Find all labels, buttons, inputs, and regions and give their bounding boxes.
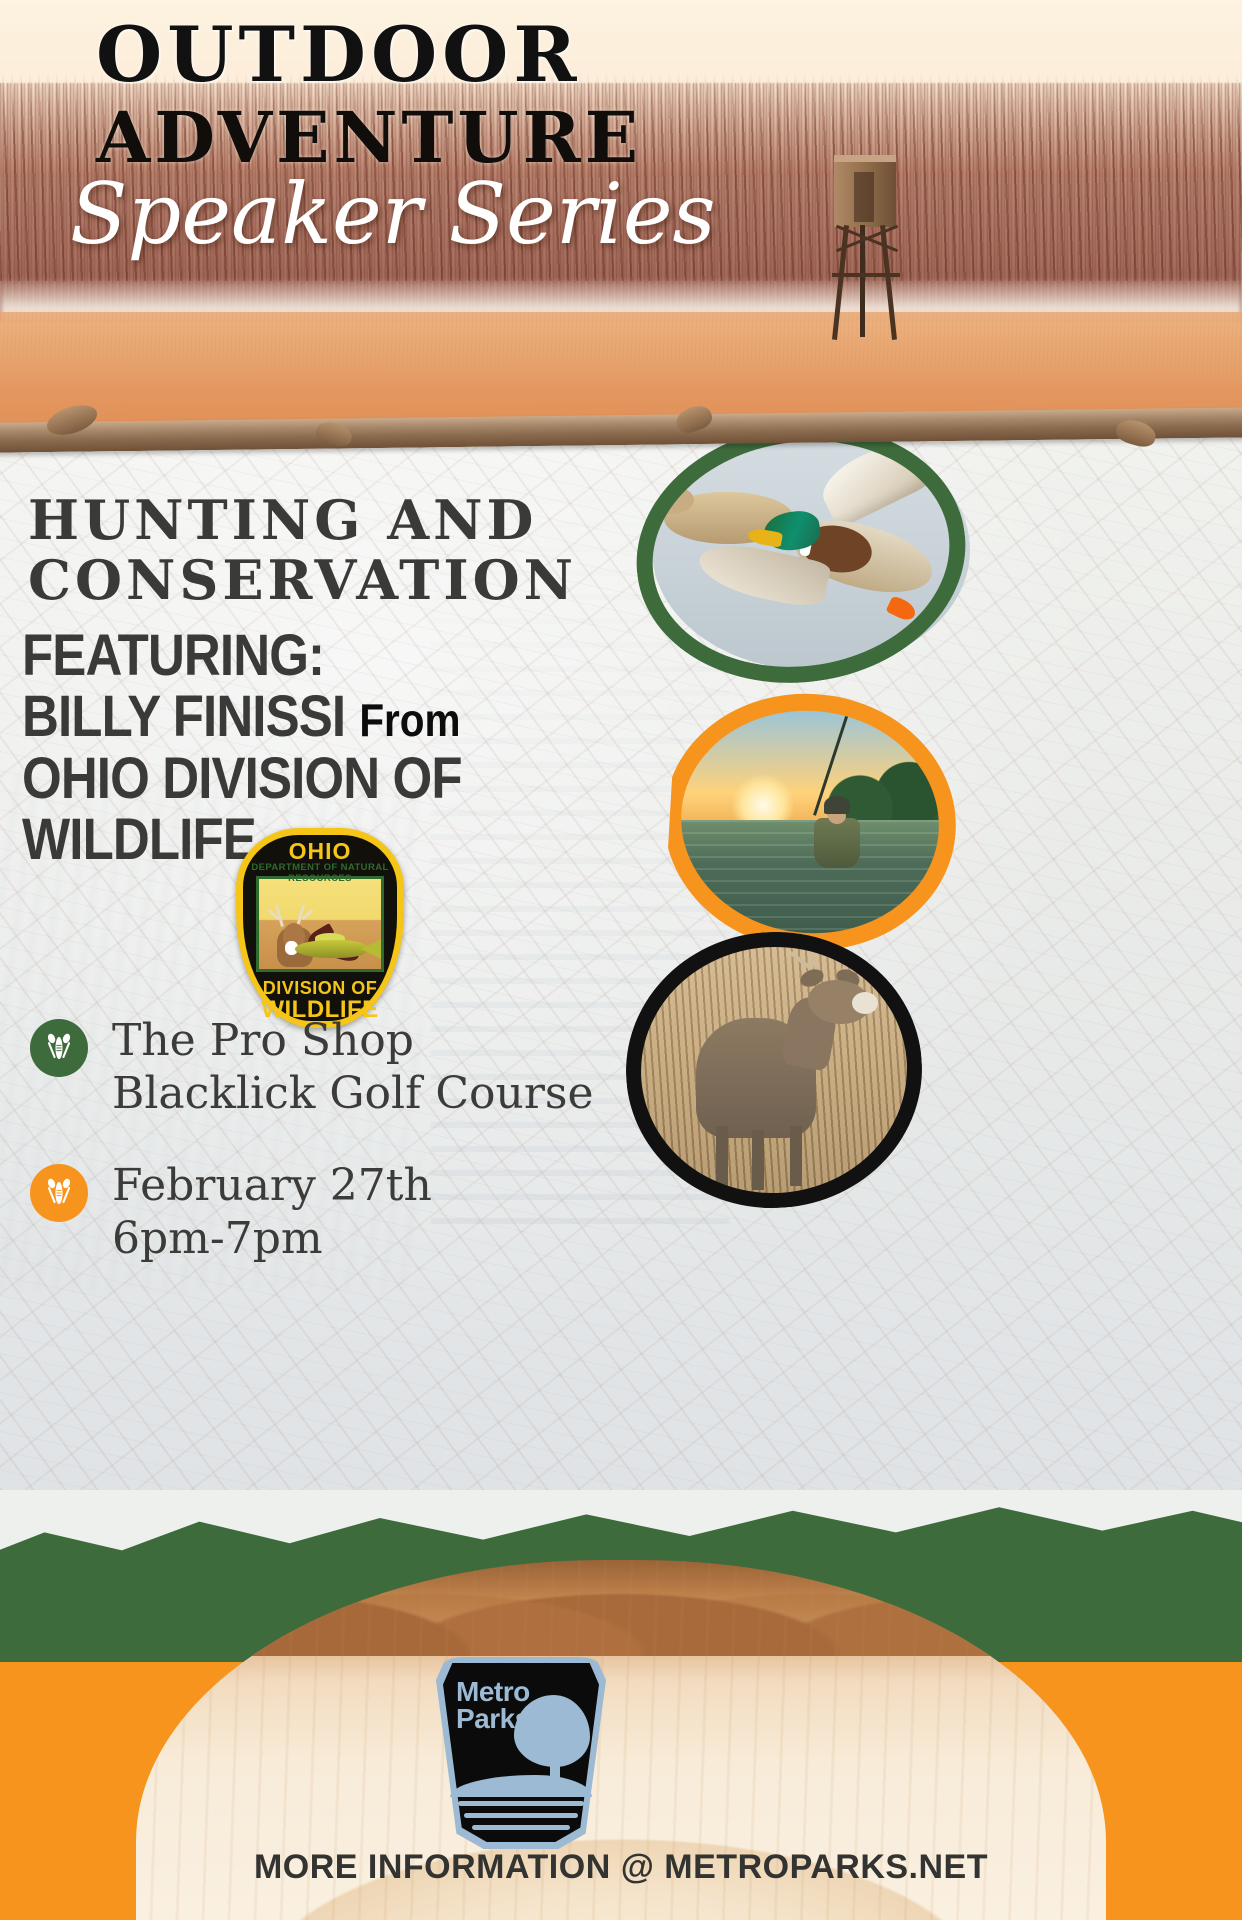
crossed-paddles-icon — [30, 1164, 88, 1222]
venue-text: The Pro Shop Blacklick Golf Course — [112, 1015, 594, 1121]
speaker-name: BILLY FINISSI — [22, 684, 345, 749]
patch-text-department: DEPARTMENT OF NATURAL RESOURCES — [236, 862, 404, 884]
headline-line-2: CONSERVATION — [28, 550, 577, 610]
speaker-line: BILLY FINISSIFrom — [22, 686, 550, 747]
time-line: 6pm-7pm — [112, 1213, 432, 1266]
logo-water-line — [464, 1813, 578, 1818]
patch-walleye-icon — [289, 937, 381, 963]
crossed-paddles-icon — [30, 1019, 88, 1077]
hunting-blind-tower-icon — [820, 155, 910, 340]
ohio-division-of-wildlife-logo: OHIO DEPARTMENT OF NATURAL RESOURCES DIV… — [236, 828, 404, 1028]
branch-divider — [0, 405, 1242, 451]
datetime-info-row: February 27th 6pm-7pm — [30, 1160, 432, 1266]
logo-water-line — [458, 1801, 584, 1806]
venue-line-2: Blacklick Golf Course — [112, 1068, 594, 1121]
title-line-outdoor: OUTDOOR — [96, 10, 582, 99]
patch-text-ohio: OHIO — [236, 838, 404, 865]
organization-line-1: OHIO DIVISION OF — [22, 748, 550, 809]
title-line-speaker-series: Speaker Series — [70, 165, 716, 263]
metro-parks-logo: Metro Parks — [436, 1657, 606, 1849]
logo-word-metro: Metro — [456, 1679, 530, 1706]
featuring-label: FEATURING: — [22, 625, 550, 686]
logo-wordmark: Metro Parks — [456, 1679, 530, 1733]
footer-more-information: MORE INFORMATION @ METROPARKS.NET — [0, 1848, 1242, 1887]
datetime-text: February 27th 6pm-7pm — [112, 1160, 432, 1266]
logo-word-parks: Parks — [456, 1706, 530, 1733]
venue-line-1: The Pro Shop — [112, 1015, 594, 1068]
paper-background: HUNTING AND CONSERVATION FEATURING: BILL… — [0, 430, 1242, 1490]
page-title: HUNTING AND CONSERVATION — [28, 490, 577, 611]
venue-info-row: The Pro Shop Blacklick Golf Course — [30, 1015, 594, 1121]
patch-scene — [256, 876, 384, 972]
headline-line-1: HUNTING AND — [28, 490, 577, 550]
event-poster: OUTDOOR ADVENTURE Speaker Series HUNTING… — [0, 0, 1242, 1920]
from-word: From — [359, 696, 460, 745]
date-line: February 27th — [112, 1160, 432, 1213]
logo-water-line — [472, 1825, 570, 1830]
